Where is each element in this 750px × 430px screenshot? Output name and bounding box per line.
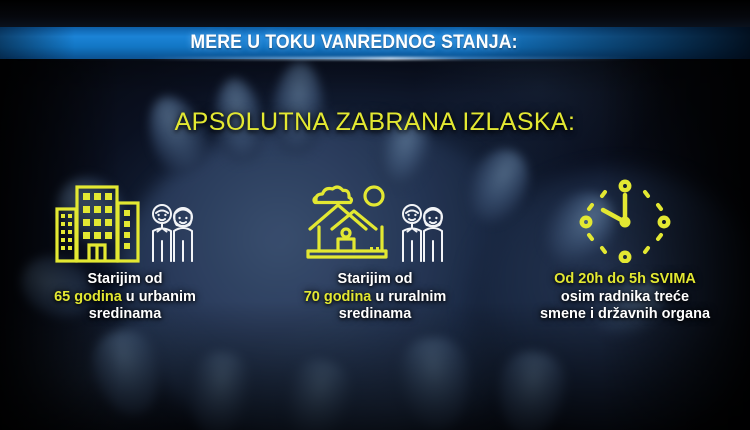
- caption-highlight: 65 godina: [54, 289, 122, 305]
- caption-line-2: 70 godina u ruralnim: [304, 289, 447, 307]
- rural-house-icon: [302, 181, 394, 263]
- banner-title: MERE U TOKU VANREDNOG STANJA:: [190, 32, 517, 54]
- caption-line-1: Starijim od: [54, 271, 196, 289]
- clock-icon: [577, 177, 673, 263]
- page-title: APSOLUTNA ZABRANA IZLASKA:: [0, 108, 750, 137]
- measure-column-rural: Starijim od 70 godina u ruralnim sredina…: [250, 175, 500, 350]
- caption-line-1: Starijim od: [304, 271, 447, 289]
- measure-caption: Od 20h do 5h SVIMA osim radnika treće sm…: [540, 271, 710, 324]
- icon-row: [52, 175, 198, 263]
- caption-line-2: osim radnika treće: [540, 289, 710, 307]
- caption-line-3: smene i državnih organa: [540, 306, 710, 324]
- banner-glow-line: [0, 57, 750, 60]
- caption-line-2: 65 godina u urbanim: [54, 289, 196, 307]
- caption-line-3: sredinama: [304, 306, 447, 324]
- measure-column-curfew: Od 20h do 5h SVIMA osim radnika treće sm…: [500, 175, 750, 350]
- elderly-couple-icon: [396, 201, 448, 263]
- caption-rest: u ruralnim: [371, 289, 446, 305]
- caption-rest: u urbanim: [122, 289, 196, 305]
- caption-highlight: Od 20h do 5h SVIMA: [540, 271, 710, 289]
- header-banner: MERE U TOKU VANREDNOG STANJA:: [0, 27, 750, 59]
- icon-row: [302, 175, 448, 263]
- icon-row: [577, 175, 673, 263]
- apartment-building-icon: [52, 183, 144, 263]
- measures-columns: Starijim od 65 godina u urbanim sredinam…: [0, 175, 750, 350]
- top-black-strip: [0, 0, 750, 27]
- measure-caption: Starijim od 65 godina u urbanim sredinam…: [54, 271, 196, 324]
- measure-caption: Starijim od 70 godina u ruralnim sredina…: [304, 271, 447, 324]
- elderly-couple-icon: [146, 201, 198, 263]
- caption-highlight: 70 godina: [304, 289, 372, 305]
- measure-column-urban: Starijim od 65 godina u urbanim sredinam…: [0, 175, 250, 350]
- infographic-slide: MERE U TOKU VANREDNOG STANJA: APSOLUTNA …: [0, 0, 750, 430]
- caption-line-3: sredinama: [54, 306, 196, 324]
